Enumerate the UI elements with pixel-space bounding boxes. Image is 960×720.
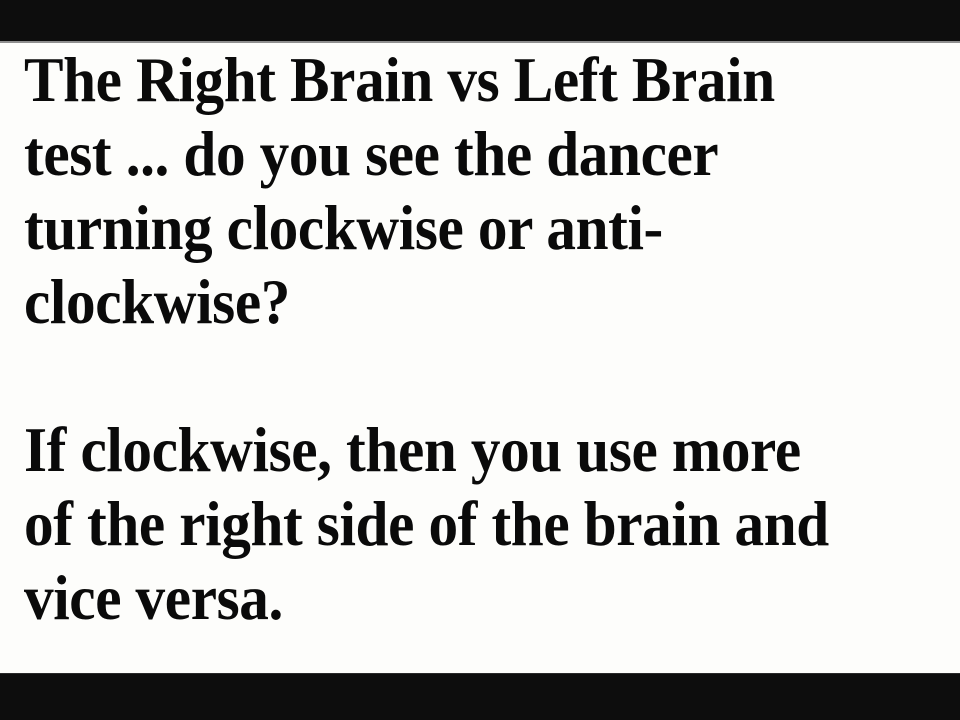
- answer-line-3: vice versa.: [24, 561, 889, 635]
- question-line-3: turning clockwise or anti-: [24, 191, 889, 265]
- letterbox-bar-bottom: [0, 673, 960, 720]
- answer-line-2: of the right side of the brain and: [24, 487, 889, 561]
- question-line-1: The Right Brain vs Left Brain: [24, 43, 889, 117]
- letterbox-bar-top: [0, 0, 960, 43]
- question-line-2: test ... do you see the dancer: [24, 117, 889, 191]
- slide-content-area: The Right Brain vs Left Brain test ... d…: [0, 43, 960, 674]
- paragraph-gap: [24, 339, 944, 413]
- answer-line-1: If clockwise, then you use more: [24, 413, 889, 487]
- video-slide-screen: The Right Brain vs Left Brain test ... d…: [0, 0, 960, 720]
- slide-text-block: The Right Brain vs Left Brain test ... d…: [24, 43, 944, 635]
- question-line-4: clockwise?: [24, 265, 889, 339]
